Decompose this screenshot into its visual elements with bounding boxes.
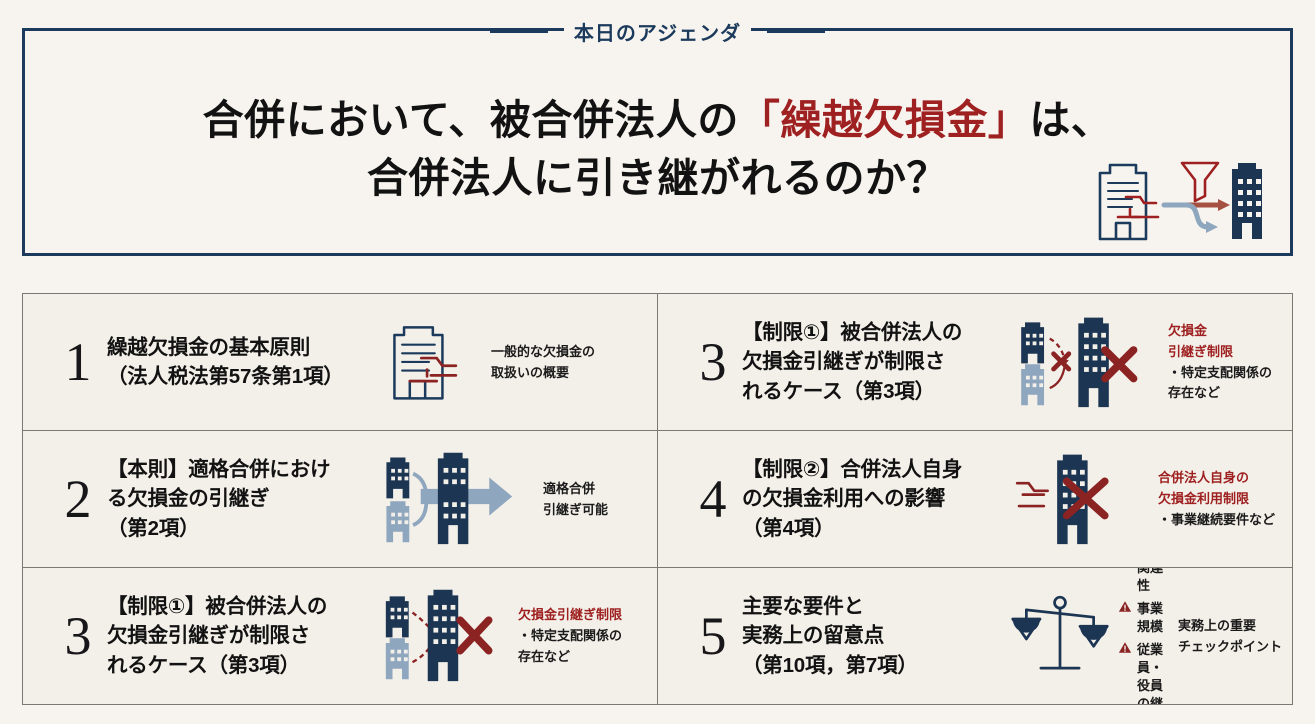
balance-scales-icon — [1010, 586, 1110, 687]
agenda-item-text: 【制限②】合併法人自身 の欠損金利用への影響 （第4項） — [742, 455, 1010, 542]
agenda-item-3-bottom[interactable]: 3 【制限①】被合併法人の 欠損金引継ぎが制限さ れるケース（第3項） — [23, 568, 658, 705]
agenda-item-text: 【制限①】被合併法人の 欠損金引継ぎが制限さ れるケース（第3項） — [742, 318, 1010, 405]
caption-line: 欠損金 — [1168, 322, 1272, 340]
page-title-line1-a: 合併において、被合併法人の — [203, 97, 739, 143]
building-loss-blocked-icon — [1010, 447, 1150, 552]
agenda-item-number: 3 — [684, 335, 742, 389]
agenda-item-number: 1 — [49, 335, 107, 389]
agenda-item-text: 【制限①】被合併法人の 欠損金引継ぎが制限さ れるケース（第3項） — [107, 592, 375, 679]
caption-line: 引継ぎ制限 — [1168, 343, 1272, 361]
agenda-item-4[interactable]: 4 【制限②】合併法人自身 の欠損金利用への影響 （第4項） — [658, 431, 1293, 568]
agenda-item-art: 一般的な欠損金の 取扱いの概要 — [375, 300, 647, 424]
caption-line: 取扱いの概要 — [491, 364, 595, 382]
agenda-item-text: 【本則】適格合併におけ る欠損金の引継ぎ （第2項） — [107, 455, 375, 542]
warning-label: 事業規模 — [1137, 600, 1170, 636]
agenda-item-captions: 欠損金引継ぎ制限 ・特定支配関係の 存在など — [518, 606, 622, 666]
agenda-item-captions: 一般的な欠損金の 取扱いの概要 — [491, 343, 595, 382]
caption-line: 一般的な欠損金の — [491, 343, 595, 361]
agenda-item-3-top[interactable]: 3 【制限①】被合併法人の 欠損金引継ぎが制限さ れるケース（第3項） — [658, 294, 1293, 431]
agenda-item-captions: 合併法人自身の 欠損金利用制限 ・事業継続要件など — [1158, 469, 1275, 529]
two-buildings-blocked-merge-icon — [1010, 310, 1160, 415]
outlined-building-declining-lines-icon — [375, 312, 483, 413]
caption-line: ・特定支配関係の — [518, 627, 622, 645]
tag-dash-right — [767, 30, 825, 33]
caption-line: ・事業継続要件など — [1158, 511, 1275, 529]
agenda-item-art: 事業関連性 事業規模 従業員・ 役員の継続 実務上の重要 チェックポイ — [1010, 574, 1282, 698]
agenda-item-captions: 実務上の重要 チェックポイント — [1178, 617, 1282, 656]
agenda-grid: 1 繰越欠損金の基本原則 （法人税法第57条第1項） — [22, 293, 1293, 705]
caption-line: チェックポイント — [1178, 638, 1282, 656]
warning-triangle-icon — [1118, 600, 1132, 618]
caption-line: 欠損金利用制限 — [1158, 490, 1275, 508]
agenda-item-number: 2 — [49, 472, 107, 526]
agenda-item-2[interactable]: 2 【本則】適格合併におけ る欠損金の引継ぎ （第2項） — [23, 431, 658, 568]
agenda-item-number: 4 — [684, 472, 742, 526]
requirement-warning-list: 事業関連性 事業規模 従業員・ 役員の継続 — [1118, 568, 1170, 705]
page-title-accent: 「繰越欠損金」 — [739, 97, 1030, 143]
caption-line: 実務上の重要 — [1178, 617, 1282, 635]
warning-item: 従業員・ 役員の継続 — [1118, 641, 1170, 705]
two-buildings-merge-arrow-icon — [375, 447, 535, 552]
caption-line: 存在など — [518, 648, 622, 666]
two-buildings-blocked-merge-icon — [375, 584, 510, 689]
agenda-item-text: 主要な要件と 実務上の留意点 （第10項，第7項） — [742, 592, 1010, 679]
caption-line: 合併法人自身の — [1158, 469, 1275, 487]
warning-triangle-icon — [1118, 641, 1132, 659]
agenda-item-number: 3 — [49, 609, 107, 663]
agenda-item-number: 5 — [684, 609, 742, 663]
hero-panel: 本日のアジェンダ 合併において、被合併法人の「繰越欠損金」は、 合併法人に引き継… — [22, 28, 1293, 256]
agenda-tag-label: 本日のアジェンダ — [564, 17, 751, 46]
warning-item: 事業規模 — [1118, 600, 1170, 636]
agenda-item-art: 合併法人自身の 欠損金利用制限 ・事業継続要件など — [1010, 437, 1282, 561]
agenda-item-art: 欠損金 引継ぎ制限 ・特定支配関係の 存在など — [1010, 300, 1282, 424]
caption-line: 引継ぎ可能 — [543, 501, 608, 519]
document-funnel-building-icon — [1086, 147, 1264, 247]
agenda-tag: 本日のアジェンダ — [25, 17, 1290, 46]
agenda-item-5[interactable]: 5 主要な要件と 実務上の留意点 （第10項，第7項） — [658, 568, 1293, 705]
agenda-item-art: 欠損金引継ぎ制限 ・特定支配関係の 存在など — [375, 574, 647, 698]
warning-label: 従業員・ 役員の継続 — [1137, 641, 1170, 705]
warning-item: 事業関連性 — [1118, 568, 1170, 595]
page-title-line1-b: は、 — [1029, 97, 1112, 143]
agenda-item-1[interactable]: 1 繰越欠損金の基本原則 （法人税法第57条第1項） — [23, 294, 658, 431]
agenda-item-captions: 欠損金 引継ぎ制限 ・特定支配関係の 存在など — [1168, 322, 1272, 403]
agenda-item-captions: 適格合併 引継ぎ可能 — [543, 480, 608, 519]
caption-line: 適格合併 — [543, 480, 608, 498]
agenda-item-text: 繰越欠損金の基本原則 （法人税法第57条第1項） — [107, 333, 375, 391]
tag-dash-left — [490, 30, 548, 33]
page-title-line1: 合併において、被合併法人の「繰越欠損金」は、 — [25, 91, 1290, 149]
caption-line: 存在など — [1168, 384, 1272, 402]
caption-line: ・特定支配関係の — [1168, 364, 1272, 382]
warning-label: 事業関連性 — [1137, 568, 1170, 595]
agenda-item-art: 適格合併 引継ぎ可能 — [375, 437, 647, 561]
caption-line: 欠損金引継ぎ制限 — [518, 606, 622, 624]
